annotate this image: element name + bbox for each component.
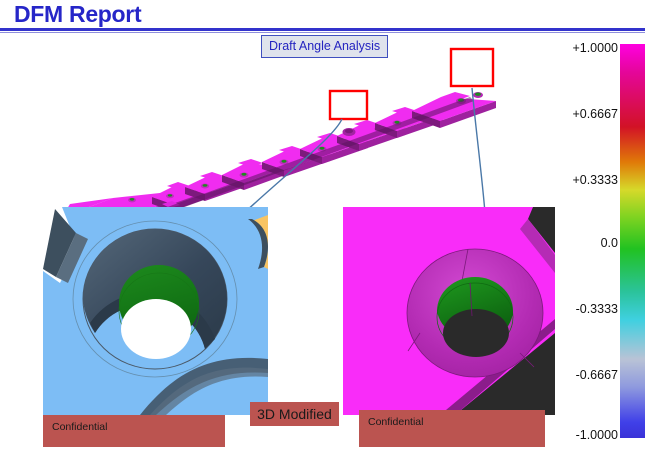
highlight-box-right[interactable] bbox=[451, 49, 493, 86]
3d-modified-label: 3D Modified bbox=[250, 402, 339, 426]
page-title: DFM Report bbox=[14, 0, 141, 28]
colorbar-tick: 0.0 bbox=[560, 237, 618, 250]
draft-angle-colorbar: +1.0000 +0.6667 +0.3333 0.0 -0.3333 -0.6… bbox=[586, 36, 645, 441]
colorbar-tick: -1.0000 bbox=[560, 429, 618, 442]
confidential-bar-right: Confidential bbox=[359, 410, 545, 447]
title-divider bbox=[0, 28, 645, 31]
colorbar-tick: -0.3333 bbox=[560, 303, 618, 316]
dfm-report-page: DFM Report Draft Angle Analysis bbox=[0, 0, 645, 455]
detail-view-right[interactable] bbox=[343, 207, 555, 415]
colorbar-tick: +0.3333 bbox=[560, 174, 618, 187]
model-viewport[interactable] bbox=[0, 33, 585, 455]
colorbar-tick: +1.0000 bbox=[560, 42, 618, 55]
colorbar-gradient bbox=[620, 44, 645, 438]
colorbar-tick: -0.6667 bbox=[560, 369, 618, 382]
colorbar-tick: +0.6667 bbox=[560, 108, 618, 121]
detail-view-left[interactable] bbox=[43, 207, 268, 415]
confidential-bar-left: Confidential bbox=[43, 415, 225, 447]
